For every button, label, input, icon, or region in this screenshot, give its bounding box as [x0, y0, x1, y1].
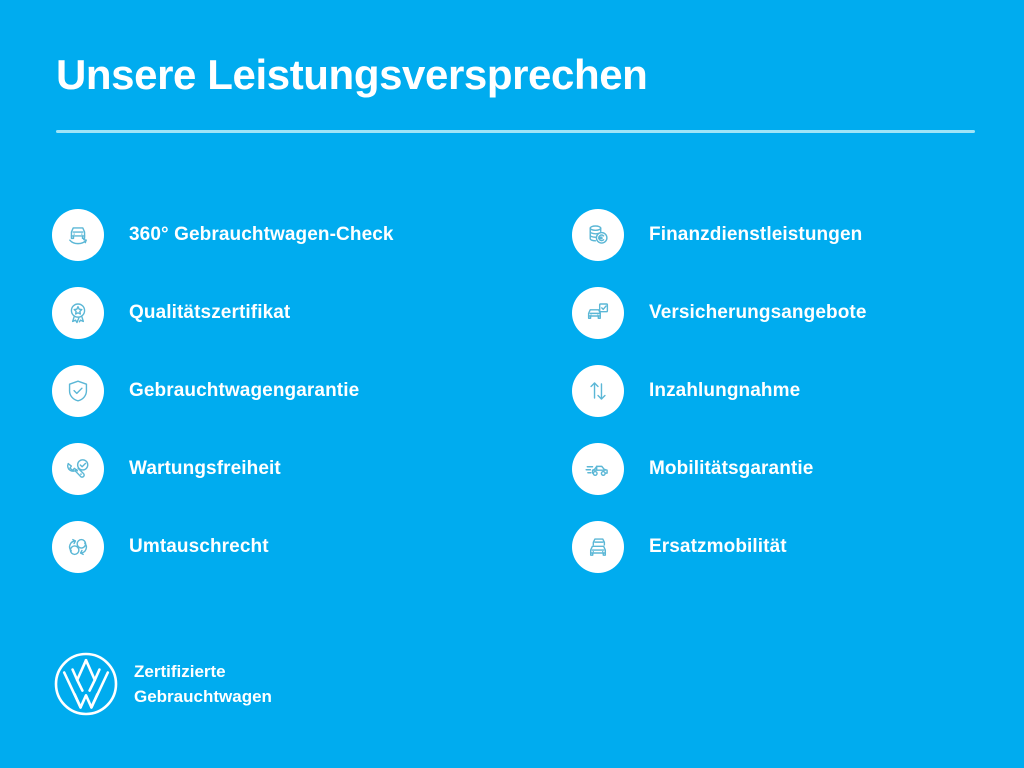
header: Unsere Leistungsversprechen: [56, 50, 976, 100]
slide-canvas: Unsere Leistungsversprechen 3: [0, 0, 1024, 768]
two-cars-icon: [572, 521, 624, 573]
brand-footer: Zertifizierte Gebrauchtwagen: [50, 648, 272, 720]
brand-text: Zertifizierte Gebrauchtwagen: [134, 659, 272, 709]
benefit-label: Versicherungsangebote: [649, 302, 867, 324]
car-motion-icon: [572, 443, 624, 495]
page-title: Unsere Leistungsversprechen: [56, 50, 976, 100]
benefit-label: Ersatzmobilität: [649, 536, 787, 558]
coins-euro-icon: [572, 209, 624, 261]
benefit-item[interactable]: Finanzdienstleistungen: [572, 196, 1024, 274]
brand-text-line2: Gebrauchtwagen: [134, 684, 272, 709]
benefit-item[interactable]: Versicherungsangebote: [572, 274, 1024, 352]
vw-logo-icon: [50, 648, 122, 720]
benefit-label: Finanzdienstleistungen: [649, 224, 862, 246]
car-checklist-icon: [572, 287, 624, 339]
benefit-item[interactable]: Mobilitätsgarantie: [572, 430, 1024, 508]
arrows-up-down-icon: [572, 365, 624, 417]
header-divider: [56, 130, 975, 133]
benefit-label: Mobilitätsgarantie: [649, 458, 813, 480]
benefit-item[interactable]: Ersatzmobilität: [572, 508, 1024, 586]
benefit-label: Inzahlungnahme: [649, 380, 800, 402]
benefits-column-right: Finanzdienstleistungen Versicherungsange…: [0, 196, 1024, 586]
benefit-item[interactable]: Inzahlungnahme: [572, 352, 1024, 430]
brand-text-line1: Zertifizierte: [134, 659, 272, 684]
benefits-grid: 360° Gebrauchtwagen-Check Qualitätszerti…: [0, 196, 1024, 586]
